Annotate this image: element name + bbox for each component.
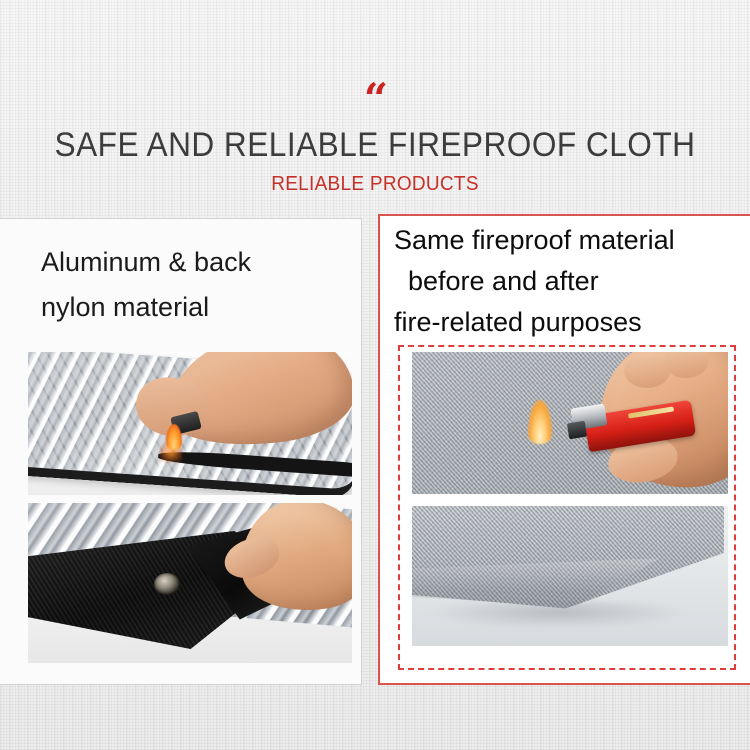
page-title: SAFE AND RELIABLE FIREPROOF CLOTH <box>26 126 724 164</box>
panel-left-caption-line1: Aluminum & back <box>41 240 351 285</box>
page-subtitle: RELIABLE PRODUCTS <box>19 172 732 196</box>
photo-gray-fabric-flame-test <box>412 352 728 494</box>
grommet-eyelet <box>154 573 180 595</box>
panel-right-caption-line3: fire-related purposes <box>394 302 750 343</box>
product-marketing-image: “ SAFE AND RELIABLE FIREPROOF CLOTH RELI… <box>0 0 750 750</box>
fabric-shadow <box>432 602 682 628</box>
panel-right-caption: Same fireproof material before and after… <box>394 220 750 343</box>
panel-left-caption: Aluminum & back nylon material <box>41 240 351 330</box>
header-section: “ SAFE AND RELIABLE FIREPROOF CLOTH RELI… <box>0 0 750 218</box>
panel-right-caption-line1: Same fireproof material <box>394 220 750 261</box>
lighter-nozzle <box>567 421 587 440</box>
panel-right-caption-line2: before and after <box>394 261 750 302</box>
photo-foil-sheet-lighter-test <box>28 352 352 495</box>
panel-left-caption-line2: nylon material <box>41 285 351 330</box>
photo-black-nylon-backing-grommet <box>28 503 352 663</box>
quote-mark-icon: “ <box>0 78 750 120</box>
photo-gray-fabric-swatch <box>412 506 728 646</box>
hand-knuckle <box>624 354 670 388</box>
